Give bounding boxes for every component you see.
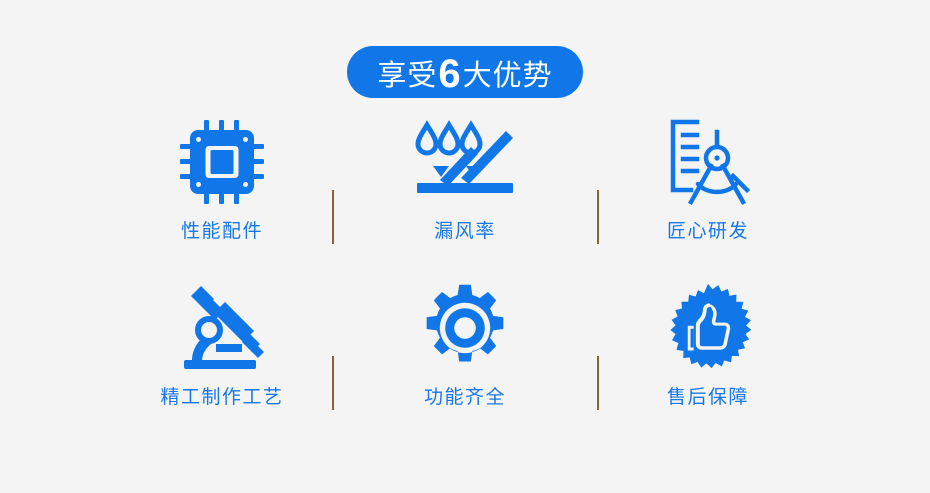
water-drops-leak-icon bbox=[413, 112, 517, 212]
feature-item-craftsmanship[interactable]: 精工制作工艺 bbox=[101, 278, 344, 407]
header-badge: 享受6大优势 bbox=[347, 46, 582, 98]
header-badge-text: 享受6大优势 bbox=[377, 52, 552, 92]
badge-prefix: 享受 bbox=[377, 62, 437, 91]
column-divider bbox=[597, 356, 599, 410]
feature-label: 售后保障 bbox=[667, 388, 749, 407]
ruler-compass-icon bbox=[661, 112, 755, 212]
features-grid: 性能配件 bbox=[0, 112, 930, 444]
column-divider bbox=[332, 190, 334, 244]
feature-label: 性能配件 bbox=[181, 222, 263, 241]
badge-suffix: 大优势 bbox=[463, 62, 553, 91]
feature-label: 漏风率 bbox=[434, 222, 496, 241]
column-divider bbox=[597, 190, 599, 244]
gear-icon bbox=[420, 278, 510, 378]
feature-item-full-function[interactable]: 功能齐全 bbox=[344, 278, 587, 407]
badge-number: 6 bbox=[437, 54, 462, 94]
feature-label: 匠心研发 bbox=[667, 222, 749, 241]
features-row-1: 性能配件 bbox=[0, 112, 930, 278]
cpu-chip-icon bbox=[176, 112, 268, 212]
feature-item-performance-parts[interactable]: 性能配件 bbox=[101, 112, 344, 241]
feature-highlights-page: 享受6大优势 bbox=[0, 0, 930, 493]
feature-label: 功能齐全 bbox=[424, 388, 506, 407]
features-row-2: 精工制作工艺 功能齐全 bbox=[0, 278, 930, 444]
feature-item-rnd[interactable]: 匠心研发 bbox=[587, 112, 830, 241]
header-badge-container: 享受6大优势 bbox=[0, 46, 930, 98]
thumbs-up-badge-icon bbox=[663, 278, 753, 378]
column-divider bbox=[332, 356, 334, 410]
feature-item-after-sales[interactable]: 售后保障 bbox=[587, 278, 830, 407]
microscope-icon bbox=[176, 278, 268, 378]
feature-label: 精工制作工艺 bbox=[160, 388, 283, 407]
feature-item-leak-rate[interactable]: 漏风率 bbox=[344, 112, 587, 241]
